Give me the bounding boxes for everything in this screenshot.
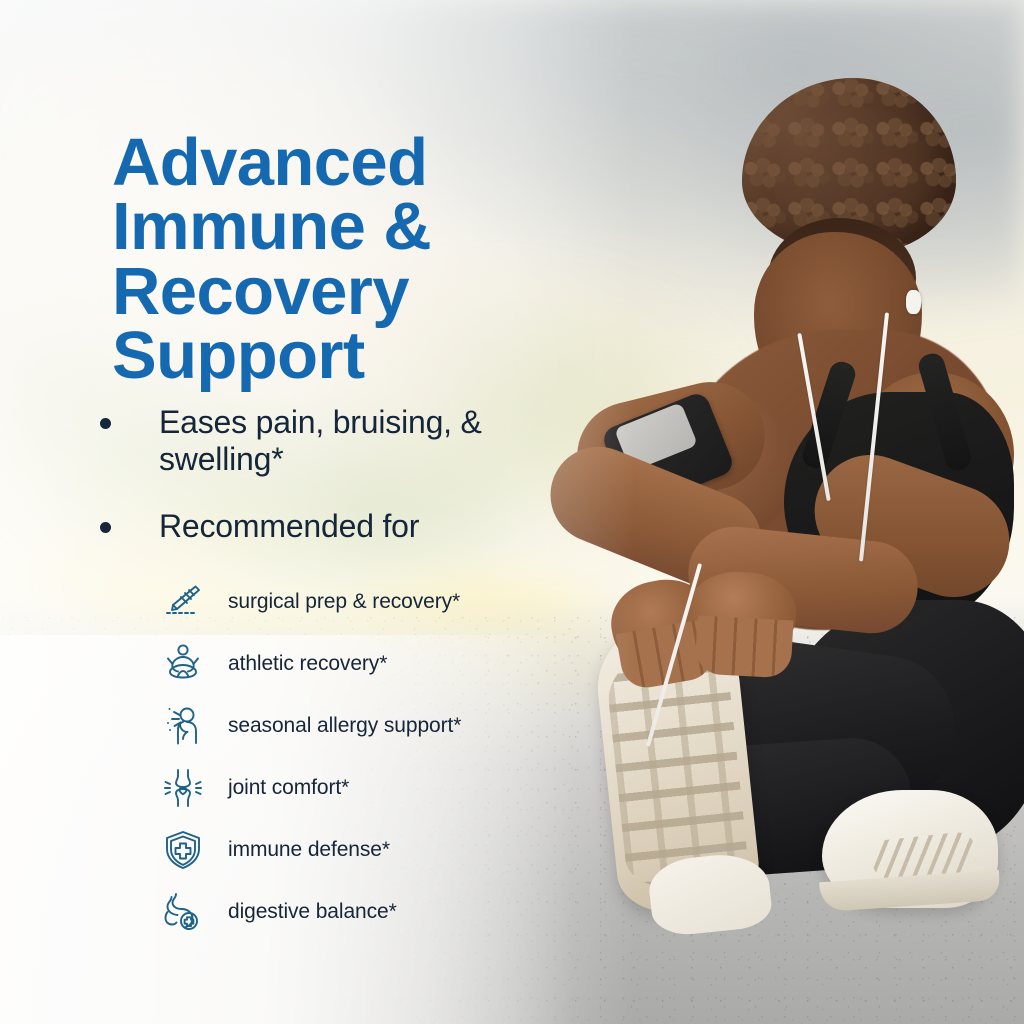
bullet-dot-icon (100, 418, 111, 429)
benefit-label: immune defense* (228, 838, 390, 862)
list-item: seasonal allergy support* (152, 696, 612, 756)
benefit-bullets: Eases pain, bruising, & swelling* Recomm… (94, 404, 524, 574)
sneeze-allergy-icon (152, 699, 214, 753)
headline-line-3: Recovery (112, 260, 542, 324)
shield-cross-icon (152, 823, 214, 877)
stomach-plus-icon (152, 885, 214, 939)
benefit-label: surgical prep & recovery* (228, 590, 460, 614)
page-title: Advanced Immune & Recovery Support (112, 131, 542, 388)
list-item: Eases pain, bruising, & swelling* (94, 404, 524, 478)
marketing-banner: Advanced Immune & Recovery Support Eases… (0, 0, 1024, 1024)
scalpel-icon (152, 575, 214, 629)
list-item: Recommended for (94, 508, 524, 545)
list-item: surgical prep & recovery* (152, 572, 612, 632)
headline-line-4: Support (112, 324, 542, 388)
bullet-dot-icon (100, 522, 111, 533)
headline-line-2: Immune & (112, 195, 542, 259)
meditation-icon (152, 637, 214, 691)
headline-line-1: Advanced (112, 131, 542, 195)
bullet-text: Recommended for (159, 508, 419, 545)
joint-icon (152, 761, 214, 815)
bullet-text: Eases pain, bruising, & swelling* (159, 404, 524, 478)
list-item: digestive balance* (152, 882, 612, 942)
benefit-label: seasonal allergy support* (228, 714, 461, 738)
list-item: joint comfort* (152, 758, 612, 818)
benefit-label: athletic recovery* (228, 652, 387, 676)
list-item: athletic recovery* (152, 634, 612, 694)
benefit-icon-list: surgical prep & recovery* athletic recov… (152, 572, 612, 944)
benefit-label: digestive balance* (228, 900, 397, 924)
list-item: immune defense* (152, 820, 612, 880)
benefit-label: joint comfort* (228, 776, 349, 800)
